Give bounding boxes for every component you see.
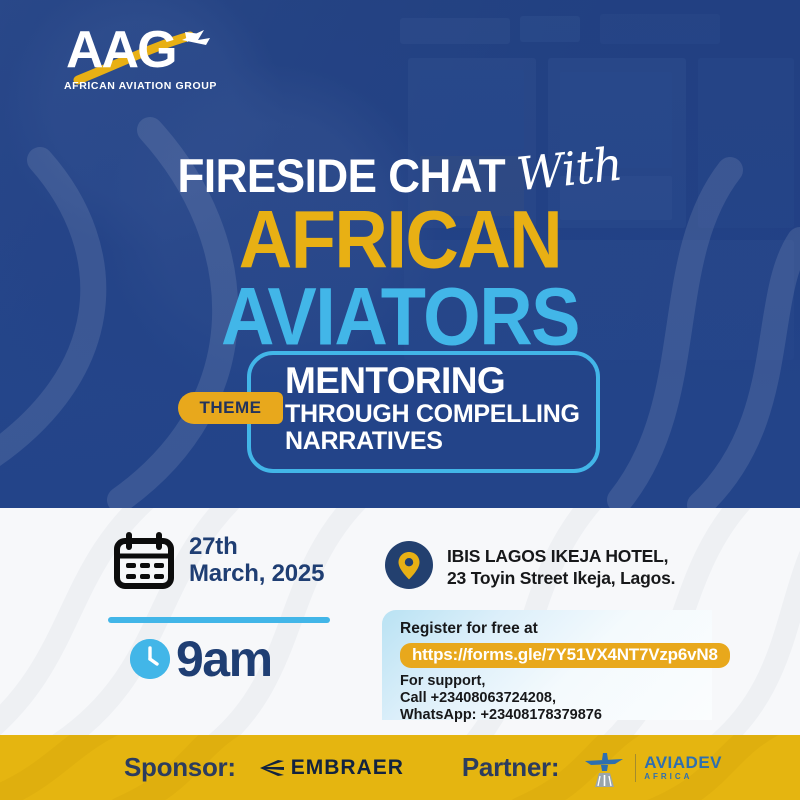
footer-bar: Sponsor: EMBRAER Partner: xyxy=(0,735,800,800)
headline-line3: AVIATORS xyxy=(0,277,800,355)
sponsor-label: Sponsor: xyxy=(124,752,236,783)
date-line1: 27th xyxy=(189,533,238,560)
support-line1: For support, xyxy=(400,673,485,689)
time-row: 9am xyxy=(130,634,272,684)
headline-script-word: With xyxy=(514,137,624,202)
date-line2: March, 2025 xyxy=(189,560,324,587)
embraer-wordmark: EMBRAER xyxy=(291,756,404,780)
theme-line2: THROUGH COMPELLING xyxy=(285,401,605,427)
aviadev-logo: AVIADEV AFRICA xyxy=(581,747,722,789)
event-date: 27th March, 2025 xyxy=(189,534,324,588)
event-time: 9am xyxy=(176,634,272,684)
logo-tagline: AFRICAN AVIATION GROUP xyxy=(64,80,217,92)
aviadev-name: AVIADEV xyxy=(644,754,722,771)
register-label: Register for free at xyxy=(400,620,712,638)
section-divider xyxy=(108,617,330,623)
logo-wordmark: AAG xyxy=(66,24,176,76)
theme-text: MENTORING THROUGH COMPELLING NARRATIVES xyxy=(285,362,605,454)
aviadev-divider xyxy=(635,754,636,782)
registration-box: Register for free at https://forms.gle/7… xyxy=(382,610,712,720)
aviadev-sub: AFRICA xyxy=(644,773,722,781)
venue-address: IBIS LAGOS IKEJA HOTEL, 23 Toyin Street … xyxy=(447,541,675,590)
embraer-arrow-icon xyxy=(258,758,286,778)
aviadev-plane-runway-icon xyxy=(581,747,627,789)
clock-icon xyxy=(130,639,170,679)
calendar-icon xyxy=(113,532,175,590)
embraer-logo: EMBRAER xyxy=(258,756,404,780)
headline-line2: AFRICAN xyxy=(0,200,800,278)
support-info: For support, Call +23408063724208, Whats… xyxy=(400,673,712,724)
headline-block: FIRESIDE CHATWith AFRICAN AVIATORS xyxy=(0,148,800,352)
registration-url-link[interactable]: https://forms.gle/7Y51VX4NT7Vzp6vN8 xyxy=(400,643,730,668)
theme-line3: NARRATIVES xyxy=(285,428,605,454)
aviadev-wordmark: AVIADEV AFRICA xyxy=(644,754,722,781)
date-row: 27th March, 2025 xyxy=(113,532,324,590)
support-line3: WhatsApp: +23408178379876 xyxy=(400,707,602,723)
partner-label: Partner: xyxy=(462,752,559,783)
aag-logo: AAG AFRICAN AVIATION GROUP xyxy=(58,24,258,96)
theme-tag: THEME xyxy=(178,392,283,424)
venue-line2: 23 Toyin Street Ikeja, Lagos. xyxy=(447,568,675,588)
venue-row: IBIS LAGOS IKEJA HOTEL, 23 Toyin Street … xyxy=(385,541,675,590)
location-pin-icon xyxy=(385,541,433,589)
support-line2: Call +23408063724208, xyxy=(400,690,556,706)
hero-section: AAG AFRICAN AVIATION GROUP FIRESIDE CHAT… xyxy=(0,0,800,508)
event-flyer: AAG AFRICAN AVIATION GROUP FIRESIDE CHAT… xyxy=(0,0,800,800)
theme-line1: MENTORING xyxy=(285,362,605,400)
venue-line1: IBIS LAGOS IKEJA HOTEL, xyxy=(447,546,668,566)
